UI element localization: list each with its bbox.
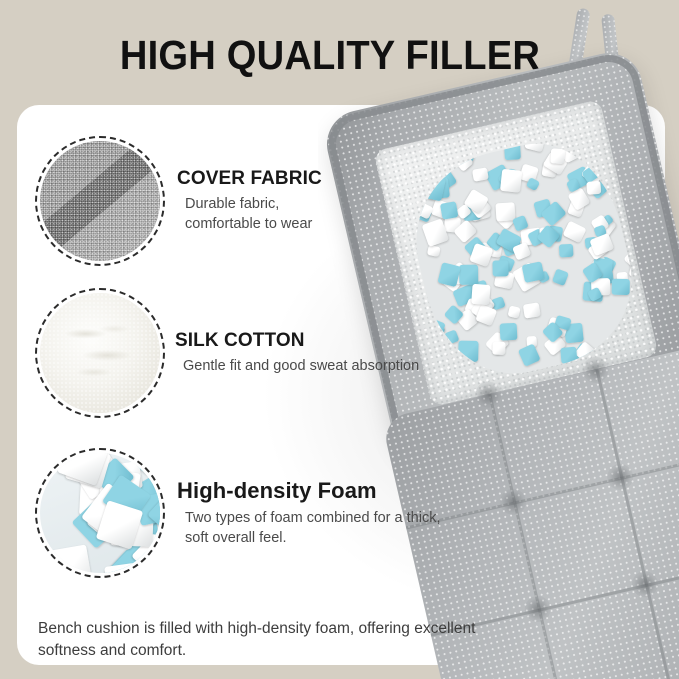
foam-cube	[104, 562, 151, 573]
feature-high-density-foam: High-density Foam Two types of foam comb…	[35, 448, 440, 578]
foam-cubes-closeup	[40, 453, 160, 573]
foam-swatch-image	[40, 453, 160, 573]
silk-cotton-text: SILK COTTON Gentle fit and good sweat ab…	[175, 330, 419, 376]
fabric-noise-texture	[40, 141, 160, 261]
cover-fabric-swatch-image	[40, 141, 160, 261]
cover-fabric-swatch	[35, 136, 165, 266]
cover-fabric-subtitle: Durable fabric, comfortable to wear	[185, 195, 322, 234]
feature-silk-cotton: SILK COTTON Gentle fit and good sweat ab…	[35, 288, 419, 418]
cover-fabric-heading: COVER FABRIC	[177, 168, 322, 190]
foam-swatch	[35, 448, 165, 578]
page-title: HIGH QUALITY FILLER	[23, 32, 637, 79]
high-density-foam-text: High-density Foam Two types of foam comb…	[177, 478, 440, 548]
infographic-canvas: HIGH QUALITY FILLER	[0, 0, 679, 679]
silk-cotton-swatch	[35, 288, 165, 418]
high-density-foam-heading: High-density Foam	[177, 478, 440, 504]
high-density-foam-subtitle: Two types of foam combined for a thick, …	[185, 509, 440, 548]
silk-cotton-heading: SILK COTTON	[175, 330, 419, 352]
foam-cube	[42, 544, 94, 573]
quilt-seam	[455, 667, 679, 679]
bottom-caption: Bench cushion is filled with high-densit…	[38, 618, 498, 662]
cover-fabric-text: COVER FABRIC Durable fabric, comfortable…	[177, 168, 322, 234]
silk-cotton-swatch-image	[40, 293, 160, 413]
silk-cotton-subtitle: Gentle fit and good sweat absorption	[183, 357, 419, 376]
feature-cover-fabric: COVER FABRIC Durable fabric, comfortable…	[35, 136, 322, 266]
cotton-fiber-texture	[40, 293, 160, 413]
